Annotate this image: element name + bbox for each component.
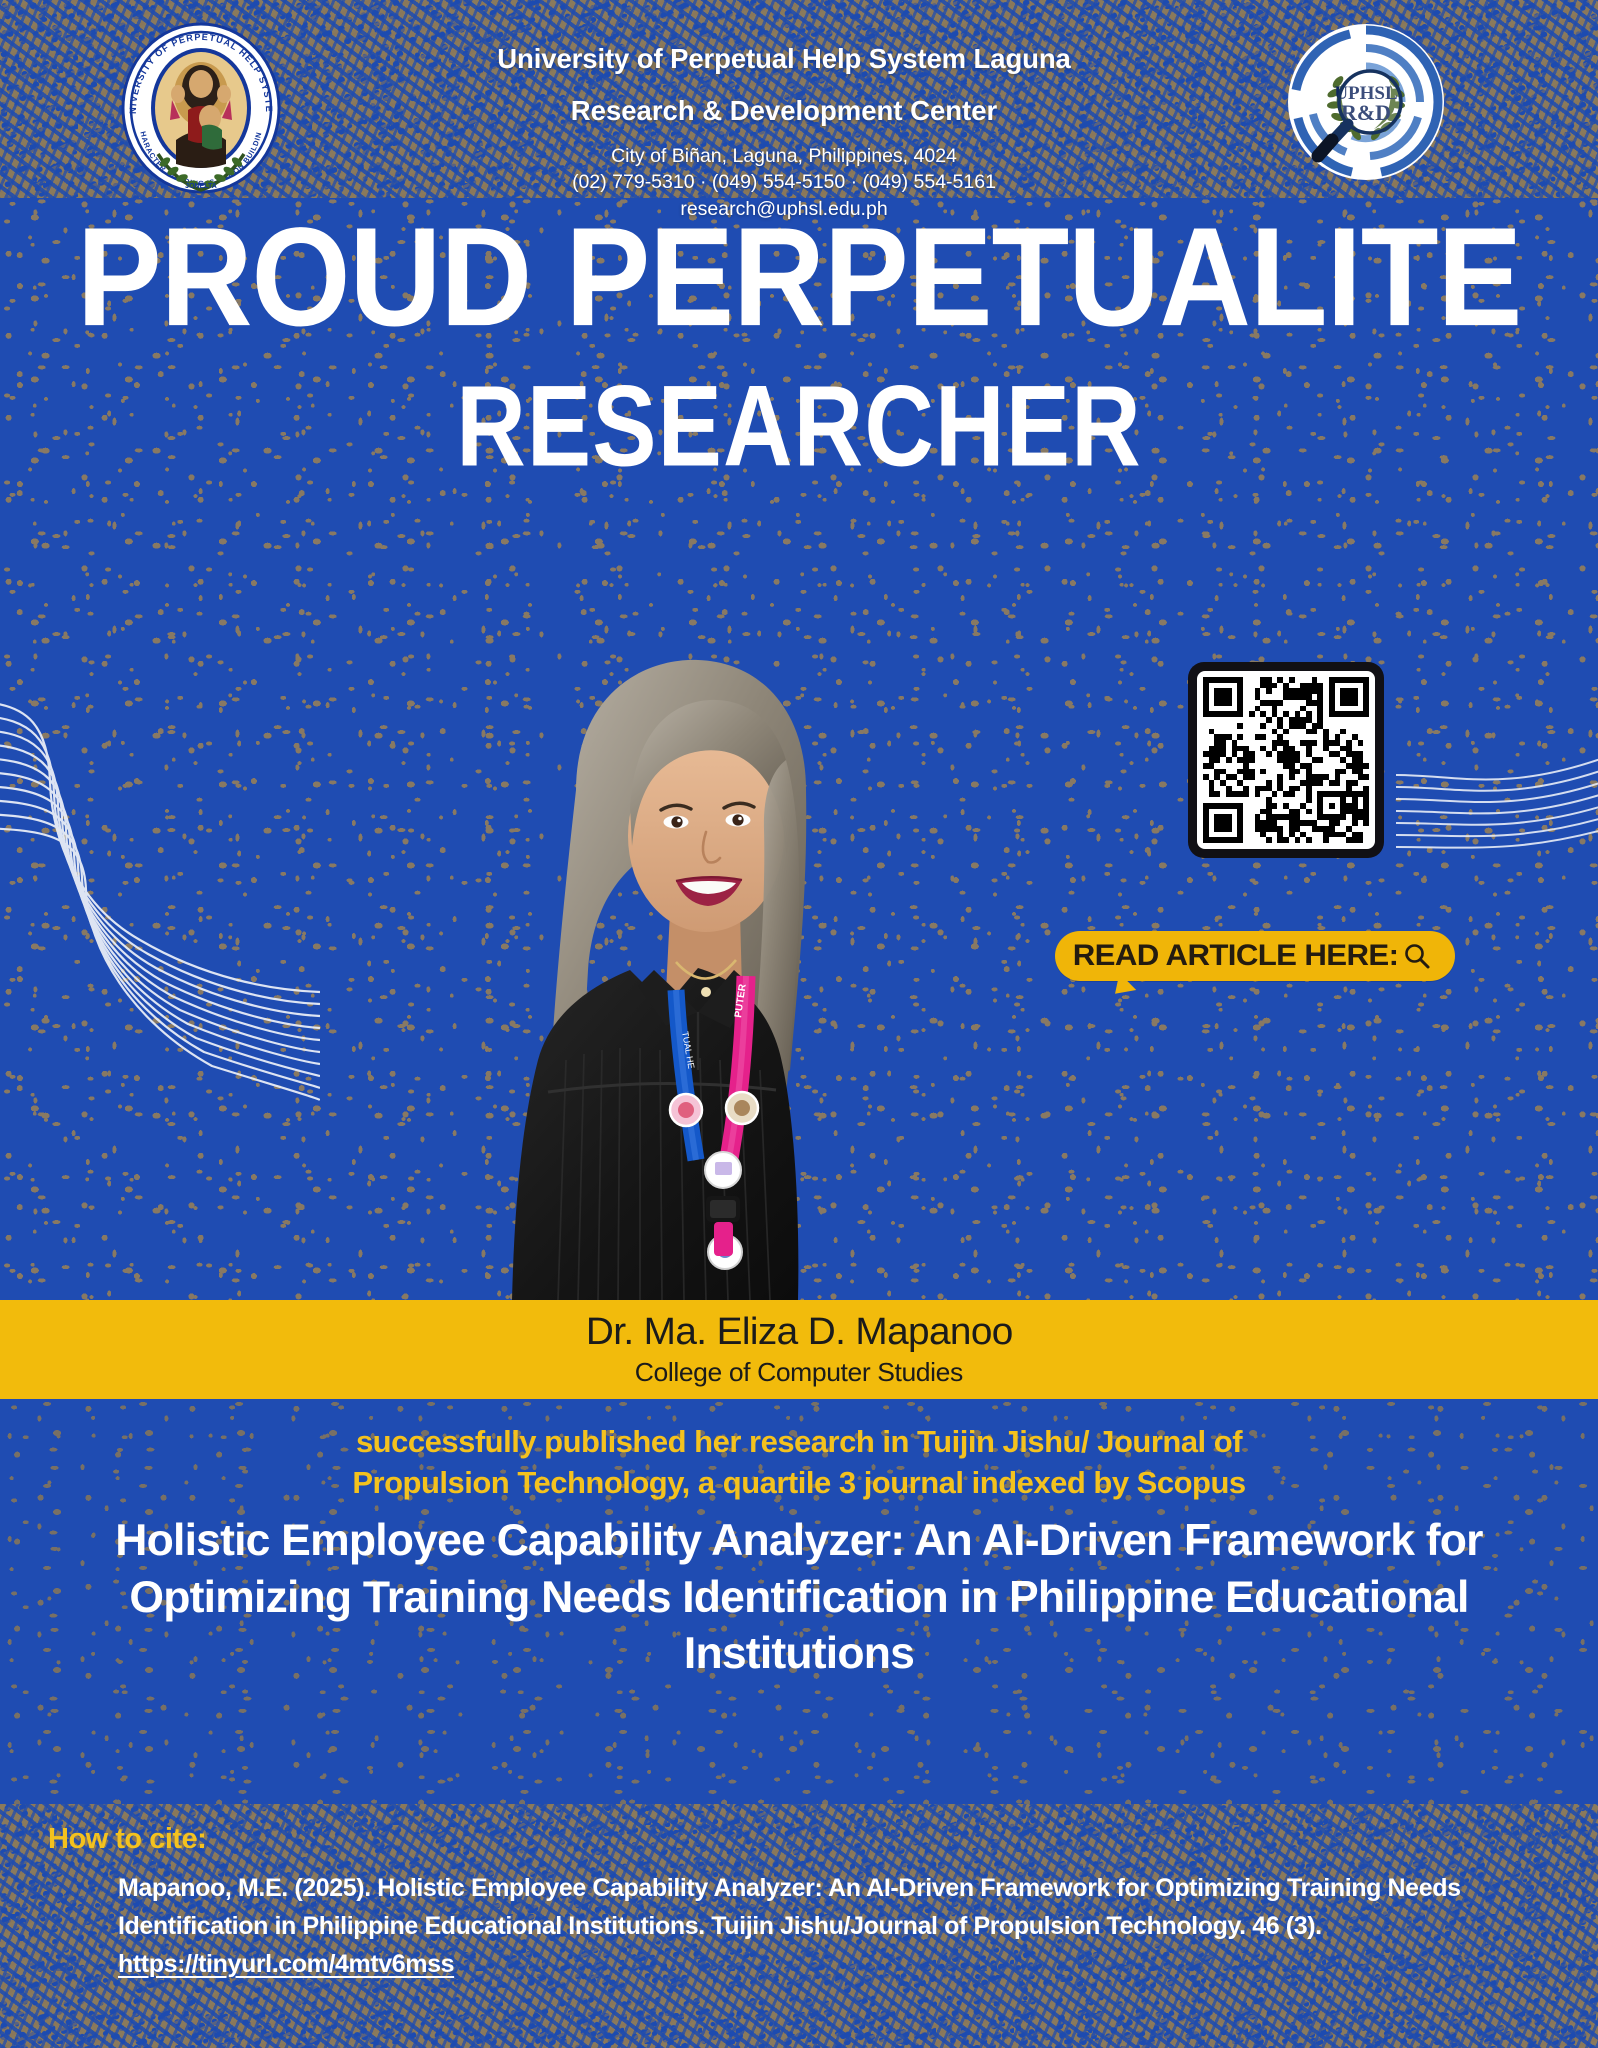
address-line: City of Biñan, Laguna, Philippines, 4024 bbox=[300, 144, 1268, 170]
uphsl-seal-icon: UNIVERSITY OF PERPETUAL HELP SYSTEM CHAR… bbox=[118, 22, 284, 202]
svg-text:JONELTA: JONELTA bbox=[185, 183, 217, 190]
decorative-curves-right bbox=[1396, 735, 1598, 925]
citation-text: Mapanoo, M.E. (2025). Holistic Employee … bbox=[118, 1874, 1461, 1940]
uphsl-rd-logo-icon: UPHSL R&D bbox=[1286, 22, 1446, 182]
publication-note-line2: Propulsion Technology, a quartile 3 jour… bbox=[130, 1463, 1468, 1504]
researcher-college: College of Computer Studies bbox=[635, 1357, 963, 1388]
poster-canvas: UNIVERSITY OF PERPETUAL HELP SYSTEM CHAR… bbox=[0, 0, 1598, 2048]
lower-section: successfully published her research in T… bbox=[0, 1399, 1598, 2048]
article-title: Holistic Employee Capability Analyzer: A… bbox=[52, 1513, 1546, 1683]
publication-note-line1: successfully published her research in T… bbox=[130, 1422, 1468, 1463]
phone-line: (02) 779-5310 · (049) 554-5150 · (049) 5… bbox=[300, 170, 1268, 196]
title-line-1: PROUD PERPETUALITE bbox=[0, 212, 1598, 341]
org-name-line2: Research & Development Center bbox=[300, 96, 1268, 126]
org-name-line1: University of Perpetual Help System Lagu… bbox=[300, 44, 1268, 74]
magnifier-icon bbox=[1403, 942, 1431, 970]
decorative-curves-left bbox=[0, 690, 320, 1160]
qr-code-block[interactable] bbox=[1188, 662, 1384, 858]
read-article-label: READ ARTICLE HERE: bbox=[1073, 939, 1399, 973]
header-text-block: University of Perpetual Help System Lagu… bbox=[300, 44, 1268, 223]
researcher-portrait: TUAL HE PUTER bbox=[398, 640, 853, 1300]
poster-header: UNIVERSITY OF PERPETUAL HELP SYSTEM CHAR… bbox=[0, 0, 1598, 205]
qr-code-icon[interactable] bbox=[1188, 662, 1384, 858]
page-title: PROUD PERPETUALITE RESEARCHER bbox=[0, 212, 1598, 455]
citation-text-block: Mapanoo, M.E. (2025). Holistic Employee … bbox=[118, 1869, 1490, 1983]
researcher-name-band: Dr. Ma. Eliza D. Mapanoo College of Comp… bbox=[0, 1300, 1598, 1399]
title-line-2: RESEARCHER bbox=[0, 373, 1598, 482]
researcher-name: Dr. Ma. Eliza D. Mapanoo bbox=[586, 1311, 1013, 1354]
read-article-button[interactable]: READ ARTICLE HERE: bbox=[1055, 931, 1455, 981]
publication-note: successfully published her research in T… bbox=[130, 1422, 1468, 1504]
citation-link[interactable]: https://tinyurl.com/4mtv6mss bbox=[118, 1950, 454, 1978]
how-to-cite-label: How to cite: bbox=[48, 1823, 206, 1856]
